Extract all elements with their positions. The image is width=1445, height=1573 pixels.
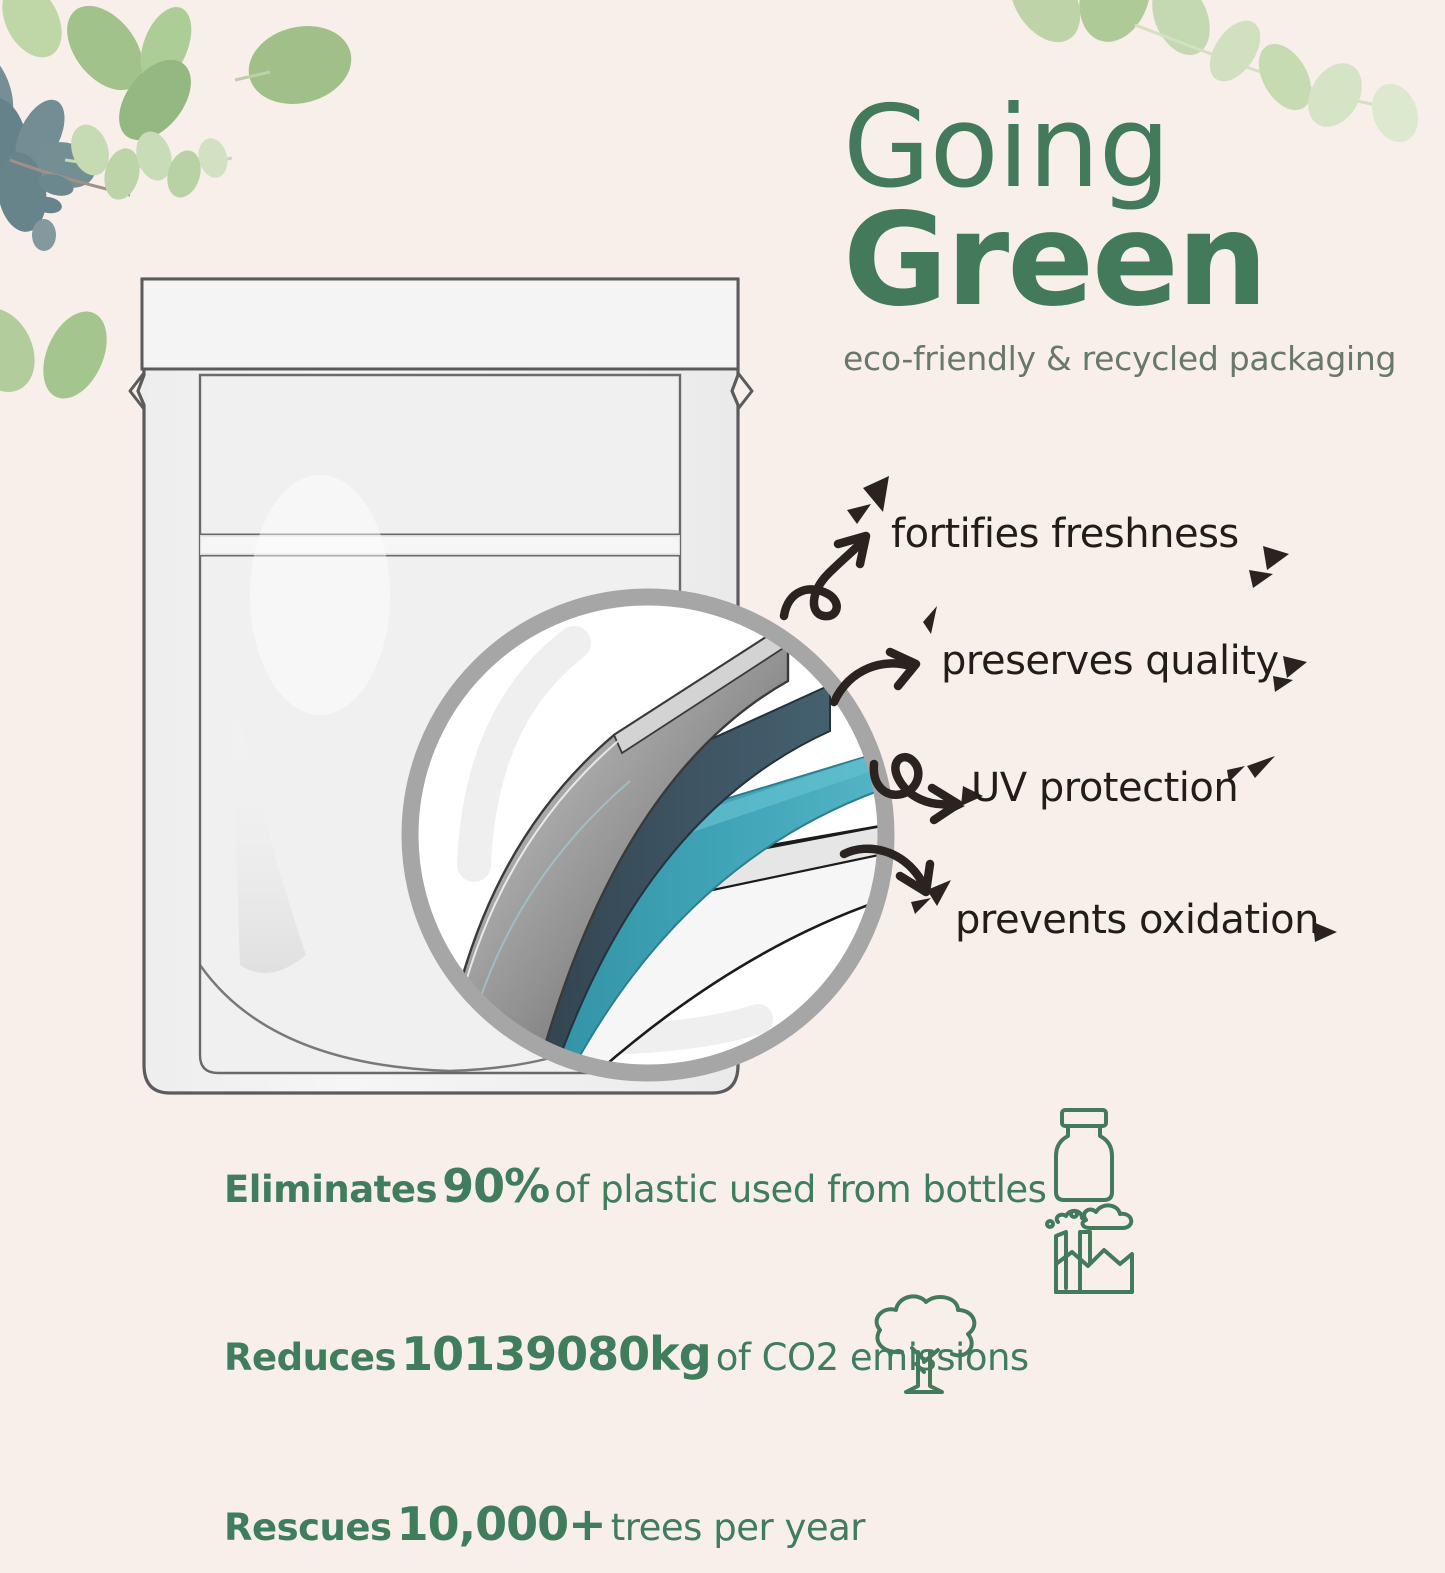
leaf-icon: [0, 0, 74, 68]
page-subtitle: eco-friendly & recycled packaging: [843, 339, 1403, 378]
feature-label-fortifies-freshness: fortifies freshness: [891, 511, 1239, 557]
page-title-line2: Green: [843, 197, 1403, 325]
tree-icon: [862, 1290, 986, 1402]
stat-lead: Eliminates: [224, 1168, 437, 1211]
pouch-tear-strip: [142, 279, 738, 369]
infographic-canvas: Going Green eco-friendly & recycled pack…: [0, 0, 1445, 1445]
leaf-icon: [32, 219, 56, 251]
stat-line-trees: Rescues 10,000+ trees per year: [224, 1497, 865, 1551]
stat-lead: Reduces: [224, 1336, 396, 1379]
headline-block: Going Green eco-friendly & recycled pack…: [843, 92, 1403, 378]
stat-tail: trees per year: [611, 1506, 865, 1549]
leaf-icon: [31, 302, 120, 409]
stat-tail: of plastic used from bottles: [554, 1168, 1046, 1211]
stat-lead: Rescues: [224, 1506, 392, 1549]
stat-row: Reduces 10139080kg of CO2 emissions: [224, 1323, 1224, 1403]
factory-icon: [1040, 1200, 1144, 1294]
feature-label-uv-protection: UV protection: [971, 765, 1238, 811]
stat-line-plastic: Eliminates 90% of plastic used from bott…: [224, 1159, 1046, 1213]
stat-value: 10,000+: [397, 1497, 606, 1551]
bottle-icon: [1042, 1108, 1126, 1204]
pouch-highlight: [250, 475, 390, 715]
leaf-icon: [240, 16, 359, 115]
leaf-icon: [1199, 12, 1270, 91]
feature-label-preserves-quality: preserves quality: [941, 638, 1279, 684]
leaf-icon: [0, 296, 48, 403]
feature-label-prevents-oxidation: prevents oxidation: [955, 897, 1319, 943]
stat-value: 90%: [442, 1159, 549, 1213]
pouch-notch-right: [738, 373, 752, 409]
stat-row: Rescues 10,000+ trees per year: [224, 1493, 1224, 1573]
leaf-icon: [1068, 0, 1162, 51]
stat-value: 10139080kg: [401, 1327, 711, 1381]
